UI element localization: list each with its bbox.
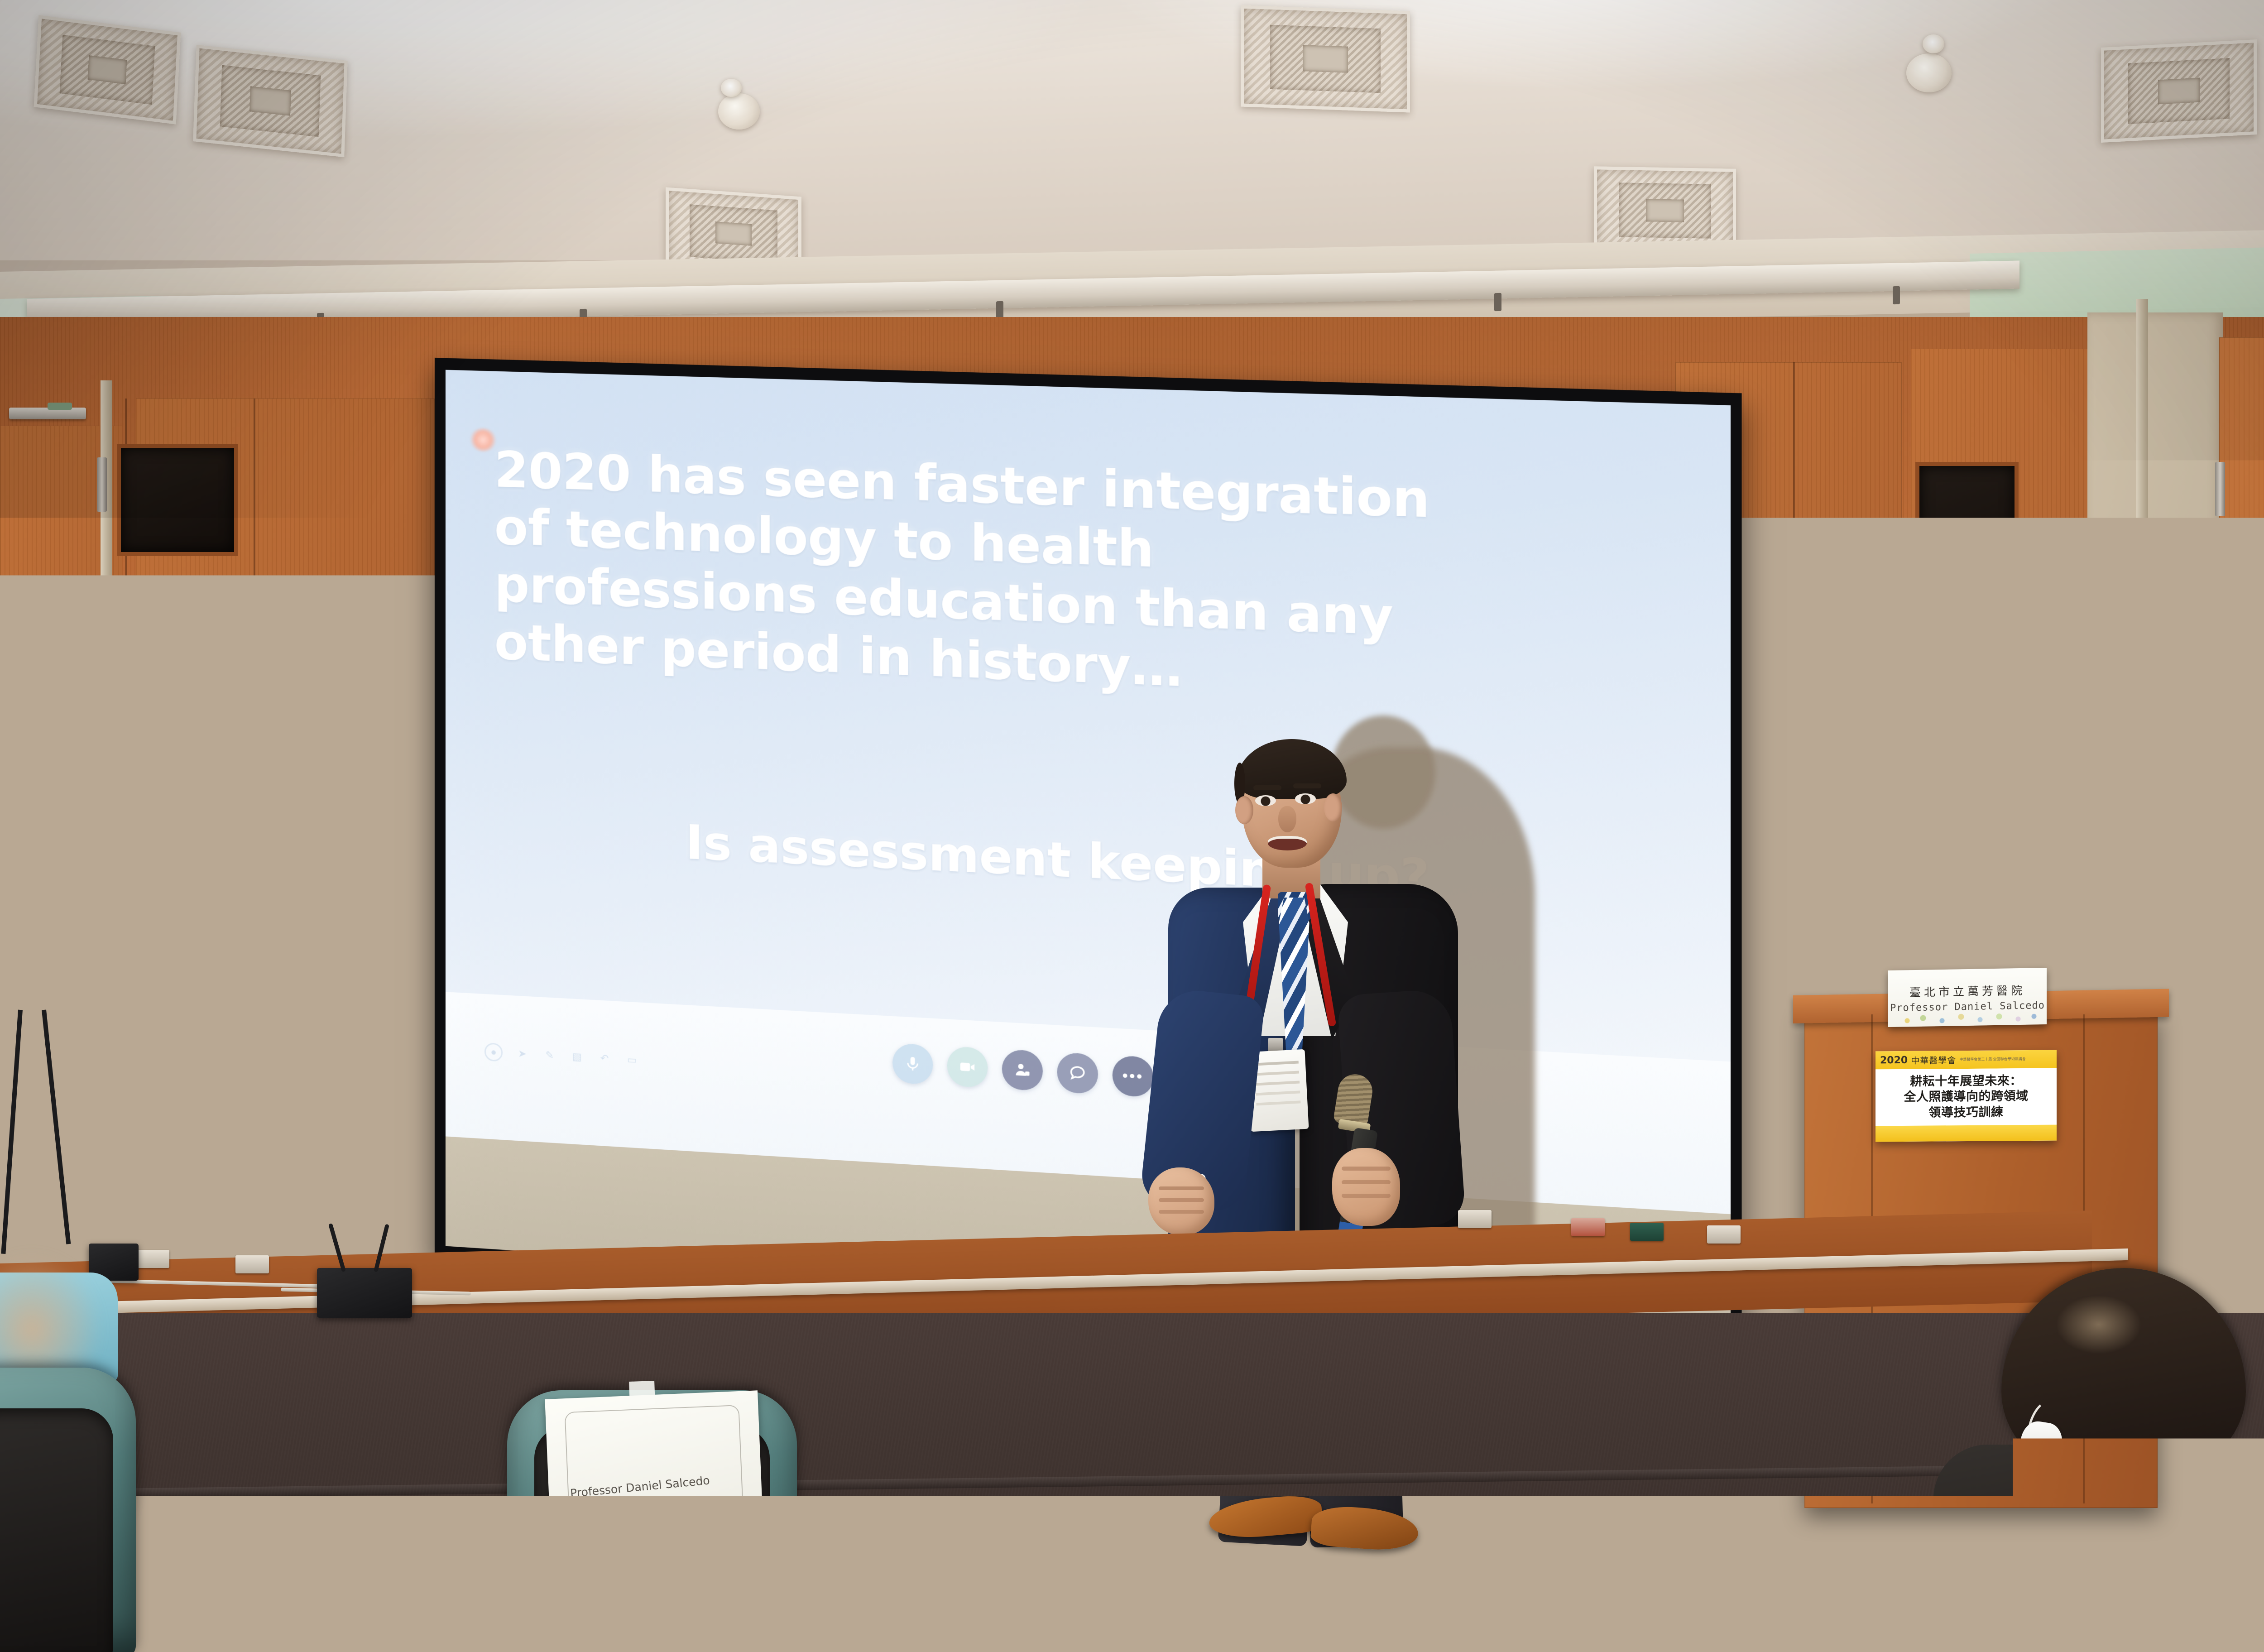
wall-speaker-grille-left — [117, 444, 238, 556]
pointer-tool-icon[interactable]: ➤ — [514, 1045, 530, 1061]
banner-organization: 中華醫學會 — [1911, 1054, 1956, 1066]
banner-subtitle: 中華醫學會第三十屆 全國聯合學術演講會 — [1959, 1057, 2026, 1061]
door-hinge-left-top — [97, 457, 107, 512]
podium-nameplate: 臺北市立萬芳醫院 Professor Daniel Salcedo — [1888, 968, 2047, 1027]
name-card-border-right — [2198, 1507, 2264, 1640]
ceiling-vent-4 — [2101, 39, 2257, 143]
ceiling-downlight-2 — [721, 79, 742, 97]
door-hinge-left-bottom — [97, 675, 107, 729]
wood-seam-h-1 — [136, 706, 435, 708]
wall-panel-right-beige — [2087, 312, 2223, 1100]
banner-header: 2020 中華醫學會 中華醫學會第三十屆 全國聯合學術演講會 — [1875, 1050, 2057, 1070]
presenter-ear-right — [1324, 793, 1342, 821]
podium-event-banner: 2020 中華醫學會 中華醫學會第三十屆 全國聯合學術演講會 耕耘十年展望未來：… — [1875, 1050, 2057, 1142]
ceiling-vent-1 — [34, 15, 181, 124]
presenter-brow-right — [1293, 783, 1321, 788]
chat-icon[interactable] — [1057, 1052, 1098, 1094]
banner-line-1: 耕耘十年展望未來： — [1910, 1074, 2022, 1090]
participants-icon[interactable] — [1002, 1049, 1043, 1091]
presenter-fist — [1148, 1167, 1214, 1235]
seat-name-card-left: Professor Daniel Salcedo — [545, 1390, 763, 1548]
door-closer-left — [9, 408, 86, 419]
banner-line-3: 領導技巧訓練 — [1929, 1105, 2004, 1120]
presenter-eye-right — [1295, 793, 1316, 804]
microphone-icon[interactable] — [892, 1043, 933, 1085]
banner-body: 耕耘十年展望未來： 全人照護導向的跨領域 領導技巧訓練 — [1875, 1068, 2057, 1126]
ceiling-downlight-1 — [718, 93, 760, 130]
presenter-nose — [1278, 806, 1296, 832]
name-card-tape-left — [629, 1381, 655, 1405]
camera-rig — [0, 924, 59, 1014]
door-frame-trim-right — [2136, 299, 2148, 1105]
screen-rail-hook-6 — [1893, 286, 1900, 304]
pen-tool-icon[interactable]: ✎ — [542, 1047, 557, 1063]
wall-outlet-red — [1571, 1218, 1605, 1236]
ceiling-downlight-4 — [1923, 34, 1944, 53]
wall-outlet-1 — [136, 1250, 169, 1268]
undo-tool-icon[interactable]: ↶ — [597, 1050, 612, 1066]
ceiling-downlight-3 — [1906, 53, 1952, 92]
screen-rail-hook-5 — [1494, 293, 1501, 311]
door-hinge-right-bottom — [2215, 634, 2225, 688]
projection-screen: 2020 has seen faster integration of tech… — [435, 358, 1742, 1345]
door-hinge-right-top — [2215, 462, 2225, 516]
banner-year: 2020 — [1880, 1054, 1908, 1066]
wall-outlet-4 — [1707, 1225, 1741, 1244]
name-card-logo-icon — [705, 1502, 748, 1532]
clear-tool-icon[interactable]: ▭ — [624, 1052, 640, 1068]
camera-icon[interactable] — [947, 1046, 988, 1088]
presenter-brow-left — [1253, 785, 1281, 790]
eraser-tool-icon[interactable]: ▧ — [569, 1048, 585, 1065]
door-right[interactable] — [2219, 337, 2264, 1107]
presenter-hand-holding-microphone — [1332, 1148, 1400, 1226]
wood-seam-2 — [254, 399, 255, 1105]
presenter-ear-left — [1235, 796, 1253, 824]
banner-line-2: 全人照護導向的跨領域 — [1904, 1089, 2029, 1105]
presenter-eye-left — [1255, 795, 1276, 806]
presenter-mouth — [1268, 836, 1307, 850]
nameplate-organization: 臺北市立萬芳醫院 — [1909, 981, 2025, 999]
ceiling-vent-2 — [193, 45, 347, 157]
wall-outlet-3 — [1458, 1210, 1492, 1228]
wall-outlet-green — [1630, 1223, 1664, 1241]
banner-footer — [1875, 1125, 2057, 1142]
conference-photo-scene: 2020 has seen faster integration of tech… — [0, 0, 2264, 1652]
slide-headline-text: 2020 has seen faster integration of tech… — [494, 442, 1463, 710]
nameplate-floral-decoration — [1888, 1011, 2047, 1026]
presenter-hair — [1237, 739, 1347, 799]
audience-right-hair-highlight — [2056, 1295, 2142, 1354]
av-equipment-box — [317, 1268, 412, 1318]
ceiling-vent-3 — [1241, 5, 1410, 112]
select-tool-icon[interactable]: ● — [484, 1042, 503, 1061]
wall-outlet-2 — [235, 1255, 269, 1273]
seat-pad-center-2 — [104, 1540, 394, 1652]
seat-name-card-right: 劉峰誠 醫師 — [2181, 1492, 2264, 1652]
wall-speaker-grille-right — [1915, 462, 2019, 597]
